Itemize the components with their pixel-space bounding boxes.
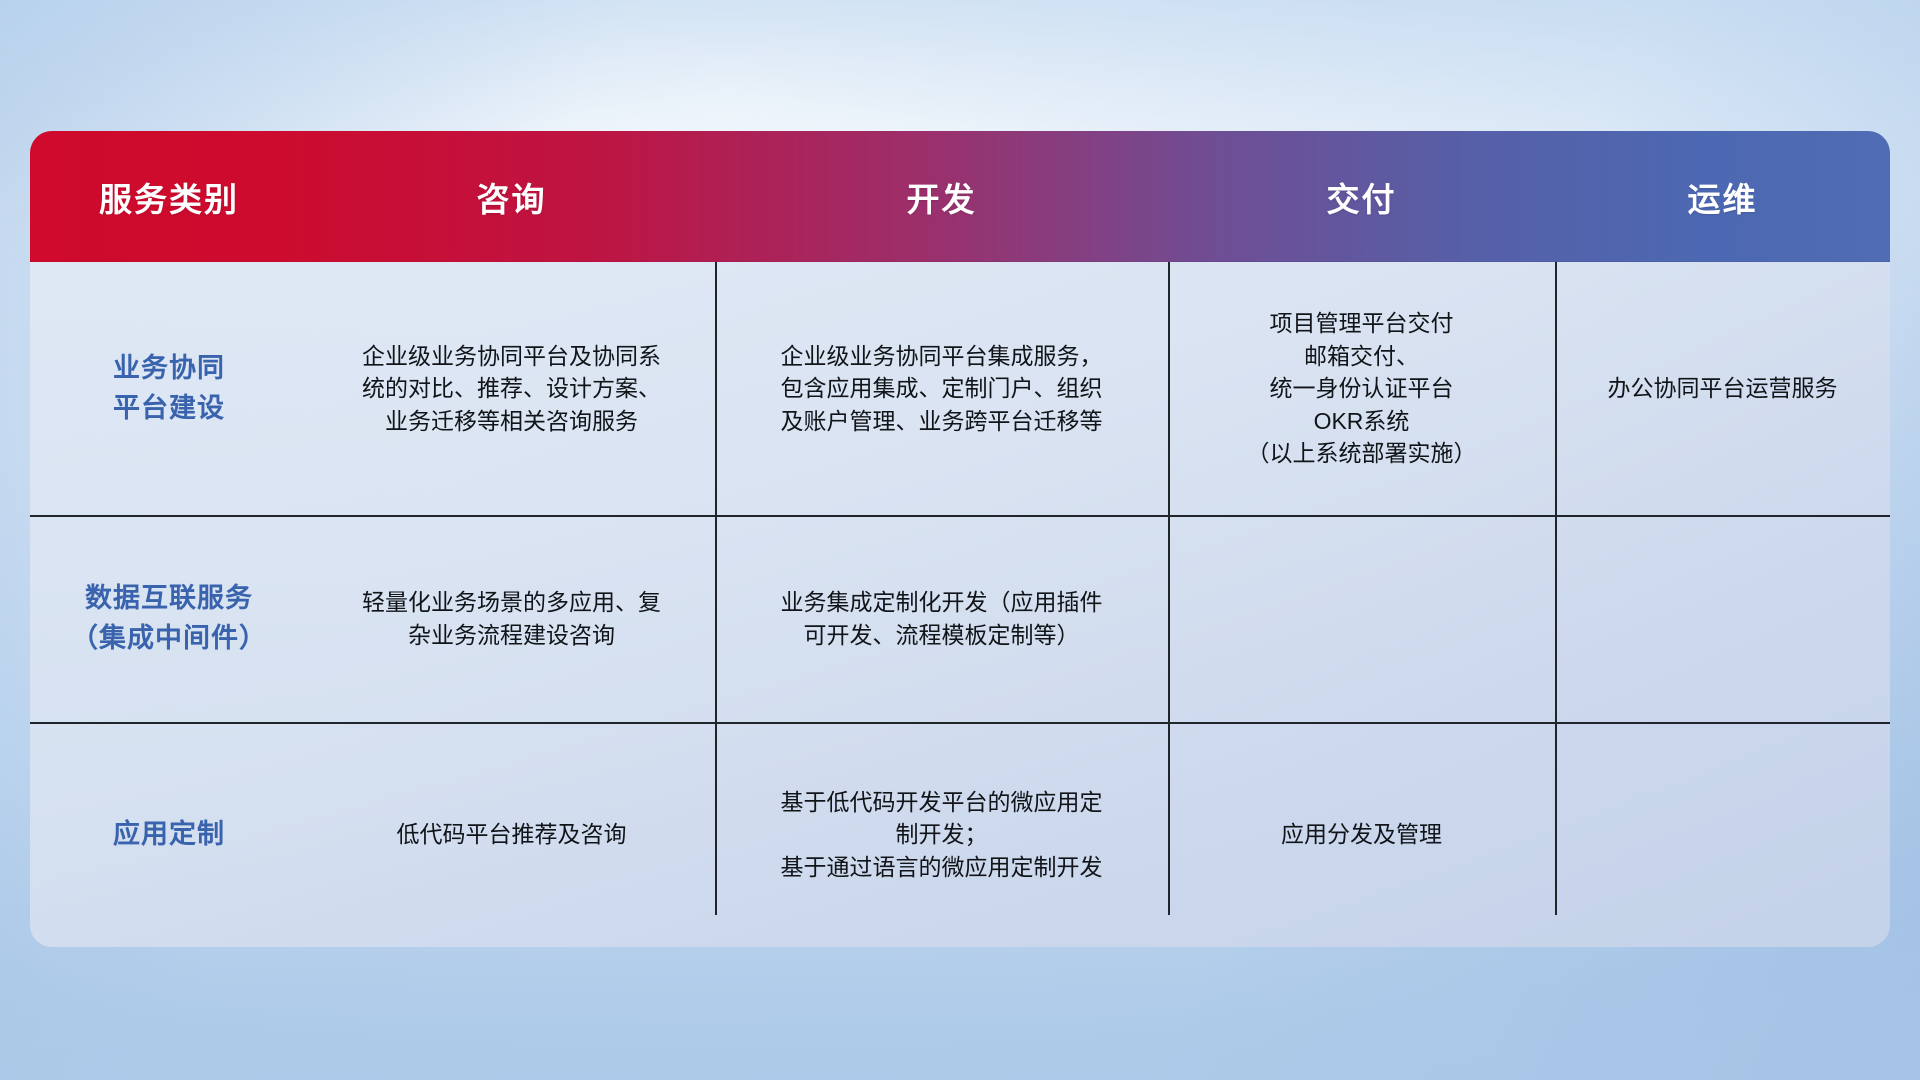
- cell-operations-3: [1555, 722, 1890, 947]
- cell-text: 轻量化业务场景的多应用、复 杂业务流程建设咨询: [362, 586, 661, 651]
- cell-operations-2: [1555, 515, 1890, 722]
- cell-category-3: 应用定制: [30, 722, 308, 947]
- category-label: 业务协同 平台建设: [113, 349, 225, 427]
- table-header-row: 服务类别 咨询 开发 交付 运维: [30, 131, 1890, 262]
- column-divider-3: [1555, 262, 1557, 915]
- cell-consulting-3: 低代码平台推荐及咨询: [308, 722, 715, 947]
- cell-development-3: 基于低代码开发平台的微应用定 制开发； 基于通过语言的微应用定制开发: [715, 722, 1168, 947]
- cell-category-2: 数据互联服务 （集成中间件）: [30, 515, 308, 722]
- cell-text: 项目管理平台交付 邮箱交付、 统一身份认证平台 OKR系统 （以上系统部署实施）: [1247, 307, 1477, 470]
- table-row[interactable]: 数据互联服务 （集成中间件） 轻量化业务场景的多应用、复 杂业务流程建设咨询 业…: [30, 515, 1890, 722]
- row-divider-1: [30, 515, 1890, 517]
- cell-text: 办公协同平台运营服务: [1608, 372, 1838, 405]
- table-row[interactable]: 业务协同 平台建设 企业级业务协同平台及协同系 统的对比、推荐、设计方案、 业务…: [30, 262, 1890, 515]
- cell-category-1: 业务协同 平台建设: [30, 262, 308, 515]
- column-header-delivery[interactable]: 交付: [1168, 173, 1555, 221]
- column-divider-2: [1168, 262, 1170, 915]
- cell-consulting-2: 轻量化业务场景的多应用、复 杂业务流程建设咨询: [308, 515, 715, 722]
- table-row[interactable]: 应用定制 低代码平台推荐及咨询 基于低代码开发平台的微应用定 制开发； 基于通过…: [30, 722, 1890, 947]
- column-header-development[interactable]: 开发: [715, 173, 1168, 221]
- cell-development-2: 业务集成定制化开发（应用插件 可开发、流程模板定制等）: [715, 515, 1168, 722]
- cell-text: 应用分发及管理: [1281, 818, 1442, 851]
- column-header-operations[interactable]: 运维: [1555, 173, 1890, 221]
- cell-text: 企业级业务协同平台集成服务， 包含应用集成、定制门户、组织 及账户管理、业务跨平…: [781, 340, 1103, 438]
- column-header-consulting[interactable]: 咨询: [308, 173, 715, 221]
- column-header-category[interactable]: 服务类别: [30, 173, 308, 221]
- category-label: 数据互联服务 （集成中间件）: [71, 579, 267, 657]
- cell-text: 低代码平台推荐及咨询: [397, 818, 627, 851]
- cell-delivery-1: 项目管理平台交付 邮箱交付、 统一身份认证平台 OKR系统 （以上系统部署实施）: [1168, 262, 1555, 515]
- service-category-table: 服务类别 咨询 开发 交付 运维 业务协同 平台建设 企业级业务协同平台及协同系…: [30, 131, 1890, 947]
- cell-consulting-1: 企业级业务协同平台及协同系 统的对比、推荐、设计方案、 业务迁移等相关咨询服务: [308, 262, 715, 515]
- cell-delivery-2: [1168, 515, 1555, 722]
- cell-text: 企业级业务协同平台及协同系 统的对比、推荐、设计方案、 业务迁移等相关咨询服务: [362, 340, 661, 438]
- cell-operations-1: 办公协同平台运营服务: [1555, 262, 1890, 515]
- cell-delivery-3: 应用分发及管理: [1168, 722, 1555, 947]
- table-body: 业务协同 平台建设 企业级业务协同平台及协同系 统的对比、推荐、设计方案、 业务…: [30, 262, 1890, 947]
- cell-development-1: 企业级业务协同平台集成服务， 包含应用集成、定制门户、组织 及账户管理、业务跨平…: [715, 262, 1168, 515]
- cell-text: 基于低代码开发平台的微应用定 制开发； 基于通过语言的微应用定制开发: [781, 786, 1103, 884]
- column-divider-1: [715, 262, 717, 915]
- row-divider-2: [30, 722, 1890, 724]
- category-label: 应用定制: [113, 815, 225, 854]
- cell-text: 业务集成定制化开发（应用插件 可开发、流程模板定制等）: [781, 586, 1103, 651]
